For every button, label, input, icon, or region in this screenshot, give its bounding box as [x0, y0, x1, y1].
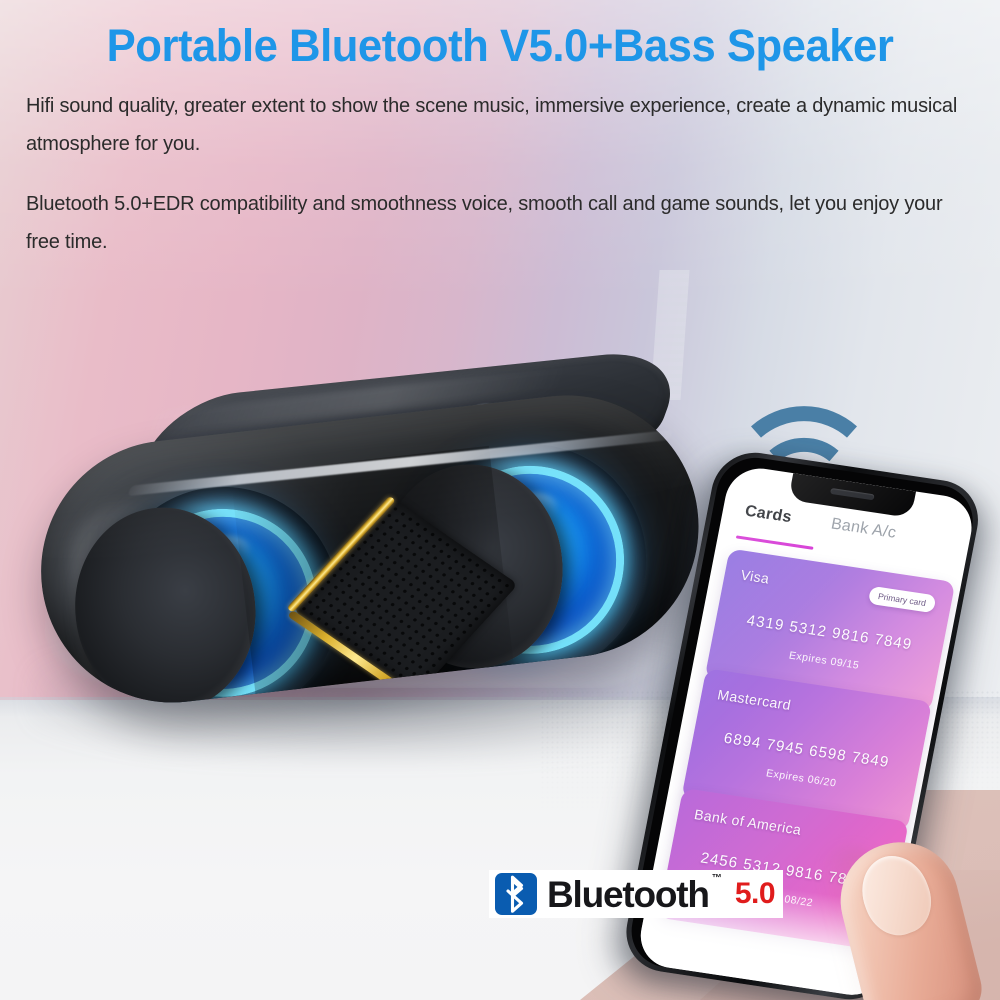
bluetooth-logo-badge: Bluetooth ™ 5.0	[489, 870, 783, 918]
bluetooth-version-label: 5.0	[735, 877, 775, 911]
trademark-symbol: ™	[712, 874, 722, 884]
bluetooth-wordmark-text: Bluetooth	[547, 874, 709, 915]
earpiece-speaker-icon	[830, 488, 875, 500]
pointing-finger	[824, 805, 1000, 1000]
header-block: Portable Bluetooth V5.0+Bass Speaker Hif…	[0, 0, 1000, 261]
tab-bank-account[interactable]: Bank A/c	[828, 515, 898, 551]
page-title: Portable Bluetooth V5.0+Bass Speaker	[40, 22, 960, 69]
description-paragraph-1: Hifi sound quality, greater extent to sh…	[26, 87, 974, 163]
speaker-product-scene	[0, 330, 760, 800]
primary-card-badge: Primary card	[868, 586, 937, 613]
card-brand-mastercard: Mastercard	[716, 686, 792, 713]
tab-cards[interactable]: Cards	[742, 503, 794, 536]
card-brand-bank-of-america: Bank of America	[693, 806, 803, 838]
card-brand-visa: Visa	[739, 567, 770, 587]
bluetooth-rune-icon	[495, 873, 537, 915]
description-paragraph-2: Bluetooth 5.0+EDR compatibility and smoo…	[26, 185, 974, 261]
bluetooth-wordmark: Bluetooth ™	[547, 876, 709, 913]
description-block: Hifi sound quality, greater extent to sh…	[26, 87, 974, 261]
product-banner: Portable Bluetooth V5.0+Bass Speaker Hif…	[0, 0, 1000, 1000]
card-header-visa: Visa Primary card	[739, 567, 936, 614]
